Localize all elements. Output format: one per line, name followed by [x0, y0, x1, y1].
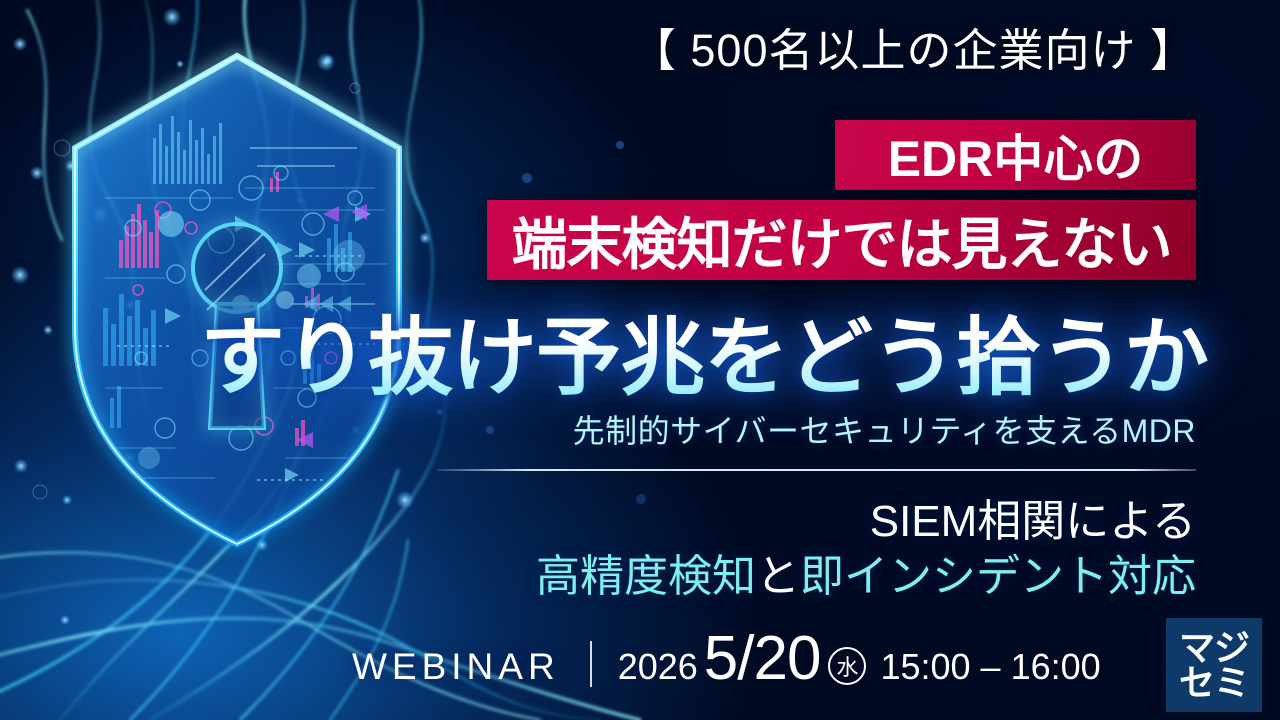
eyebrow-text: 【 500名以上の企業向け 】 — [631, 28, 1196, 73]
logo-line-1: マジ — [1179, 630, 1249, 665]
event-date: 5/20 — [704, 628, 821, 690]
benefit-line-2: 高精度検知と即インシデント対応 — [536, 540, 1196, 604]
sub-headline: 先制的サイバーセキュリティを支えるMDR — [573, 406, 1196, 452]
footer-separator — [590, 641, 592, 687]
majisemi-logo: マジ セミ — [1166, 618, 1262, 712]
webinar-banner: 【 500名以上の企業向け 】 EDR中心の 端末検知だけでは見えない すり抜け… — [0, 0, 1280, 720]
event-time: 15:00 – 16:00 — [880, 646, 1100, 688]
event-year: 2026 — [618, 646, 698, 688]
benefit-line-2-part-1: 高精度検知 — [536, 552, 756, 601]
highlight-bar-edr: EDR中心の — [835, 120, 1196, 190]
event-schedule: WEBINAR 2026 5/20 水 15:00 – 16:00 — [352, 628, 1101, 690]
benefit-line-2-part-2: と — [756, 552, 800, 601]
highlight-bar-endpoint: 端末検知だけでは見えない — [487, 200, 1196, 280]
main-headline: すり抜け予兆をどう拾うか — [0, 289, 1208, 412]
logo-line-2: セミ — [1179, 665, 1249, 700]
highlight-bar-edr-label: EDR中心の — [888, 119, 1144, 191]
footer-bar: WEBINAR 2026 5/20 水 15:00 – 16:00 — [0, 628, 1280, 690]
divider-line — [437, 469, 1196, 471]
highlight-bar-endpoint-label: 端末検知だけでは見えない — [512, 200, 1172, 281]
event-day-of-week: 水 — [828, 647, 866, 685]
benefit-line-2-part-3: 即インシデント対応 — [800, 552, 1196, 601]
webinar-label: WEBINAR — [352, 646, 560, 688]
